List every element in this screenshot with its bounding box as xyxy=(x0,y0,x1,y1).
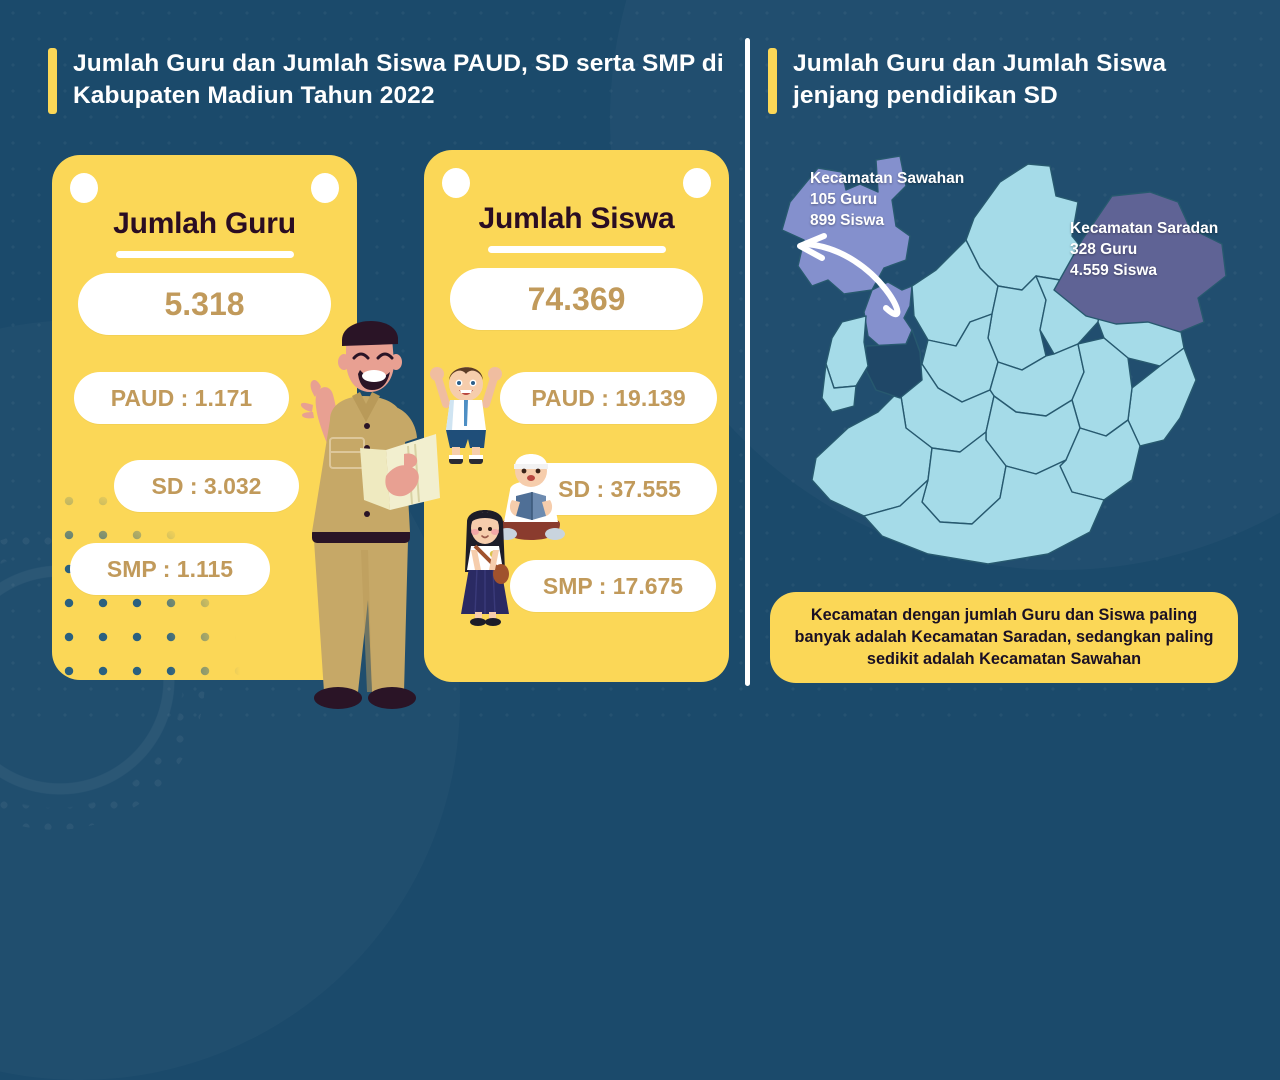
map-caption-box: Kecamatan dengan jumlah Guru dan Siswa p… xyxy=(770,592,1238,683)
map-label-sawahan: Kecamatan Sawahan 105 Guru 899 Siswa xyxy=(810,168,964,231)
siswa-paud-value: PAUD : 19.139 xyxy=(500,372,717,424)
card-title-guru: Jumlah Guru xyxy=(52,207,357,241)
madiun-regency-map: Kecamatan Sawahan 105 Guru 899 Siswa Kec… xyxy=(760,140,1260,580)
siswa-total-value: 74.369 xyxy=(450,268,703,330)
map-label-saradan-teachers: 328 Guru xyxy=(1070,239,1218,260)
map-label-saradan-students: 4.559 Siswa xyxy=(1070,260,1218,281)
siswa-smp-value: SMP : 17.675 xyxy=(510,560,716,612)
right-panel-title: Jumlah Guru dan Jumlah Siswa jenjang pen… xyxy=(768,48,1238,114)
stat-card-guru: Jumlah Guru 5.318 PAUD : 1.171 SD : 3.03… xyxy=(52,155,357,680)
card-title-underline xyxy=(488,246,666,253)
title-accent-bar xyxy=(768,48,777,114)
guru-sd-value: SD : 3.032 xyxy=(114,460,299,512)
map-label-saradan-district: Kecamatan Saradan xyxy=(1070,218,1218,239)
siswa-sd-value: SD : 37.555 xyxy=(522,463,717,515)
guru-smp-value: SMP : 1.115 xyxy=(70,543,270,595)
district-left-strip[interactable] xyxy=(826,316,868,388)
guru-total-value: 5.318 xyxy=(78,273,331,335)
card-punch-hole-right xyxy=(683,168,711,198)
vertical-divider xyxy=(745,38,750,686)
card-title-underline xyxy=(116,251,294,258)
guru-paud-value: PAUD : 1.171 xyxy=(74,372,289,424)
card-punch-hole-right xyxy=(311,173,339,203)
map-label-saradan: Kecamatan Saradan 328 Guru 4.559 Siswa xyxy=(1070,218,1218,281)
stat-card-siswa: Jumlah Siswa 74.369 PAUD : 19.139 SD : 3… xyxy=(424,150,729,682)
card-punch-hole-left xyxy=(70,173,98,203)
left-panel-title-text: Jumlah Guru dan Jumlah Siswa PAUD, SD se… xyxy=(73,48,728,112)
map-label-sawahan-students: 899 Siswa xyxy=(810,210,964,231)
map-label-sawahan-district: Kecamatan Sawahan xyxy=(810,168,964,189)
title-accent-bar xyxy=(48,48,57,114)
right-panel-title-text: Jumlah Guru dan Jumlah Siswa jenjang pen… xyxy=(793,48,1238,112)
left-panel-title: Jumlah Guru dan Jumlah Siswa PAUD, SD se… xyxy=(48,48,728,114)
district-base-n3[interactable] xyxy=(988,276,1046,370)
card-punch-hole-left xyxy=(442,168,470,198)
card-title-siswa: Jumlah Siswa xyxy=(424,202,729,236)
map-label-sawahan-teachers: 105 Guru xyxy=(810,189,964,210)
